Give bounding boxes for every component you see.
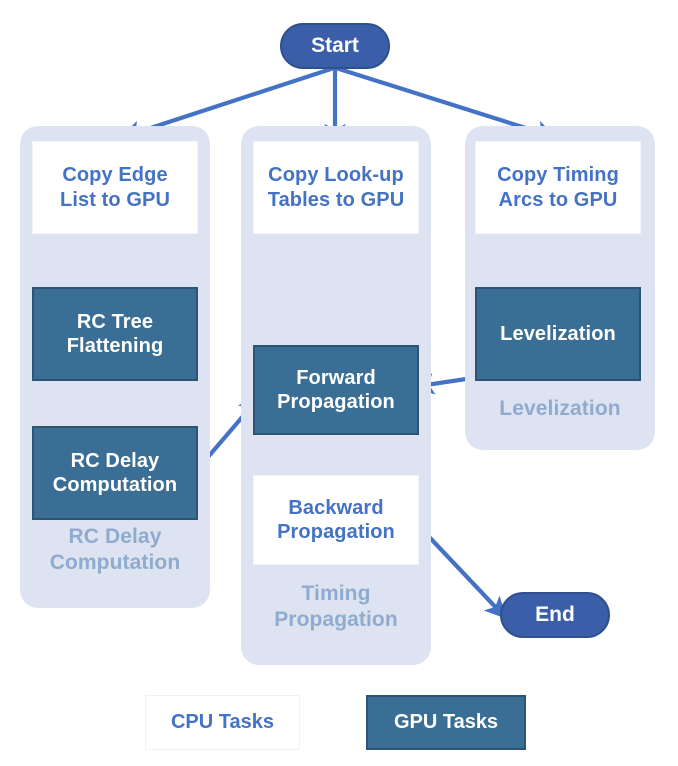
end-node-label: End <box>535 603 575 627</box>
legend-cpu-tasks: CPU Tasks <box>145 695 300 750</box>
node-line1: Levelization <box>500 322 616 346</box>
node-rc-delay-computation[interactable]: RC Delay Computation <box>32 426 198 520</box>
node-line1: Backward <box>277 496 395 520</box>
node-copy-timing-arcs-to-gpu[interactable]: Copy Timing Arcs to GPU <box>475 141 641 234</box>
legend-gpu-tasks: GPU Tasks <box>366 695 526 750</box>
group-label-line2: Computation <box>20 550 210 576</box>
group-label-levelization: Levelization <box>465 396 655 422</box>
node-rc-tree-flattening[interactable]: RC Tree Flattening <box>32 287 198 381</box>
flowchart-canvas: RC Delay Computation Timing Propagation … <box>0 0 678 766</box>
node-line1: RC Tree <box>67 310 164 334</box>
group-label-rc-delay-computation: RC Delay Computation <box>20 524 210 575</box>
node-copy-edge-list-to-gpu[interactable]: Copy Edge List to GPU <box>32 141 198 234</box>
group-label-line1: Levelization <box>465 396 655 422</box>
start-node[interactable]: Start <box>280 23 390 69</box>
legend-cpu-label: CPU Tasks <box>171 711 274 734</box>
end-node[interactable]: End <box>500 592 610 638</box>
node-line2: Flattening <box>67 334 164 358</box>
node-line2: Propagation <box>277 520 395 544</box>
node-line1: Forward <box>277 366 395 390</box>
group-label-line2: Propagation <box>241 607 431 633</box>
node-line2: Tables to GPU <box>268 188 405 212</box>
node-line1: Copy Edge <box>60 163 170 187</box>
group-label-line1: Timing <box>241 581 431 607</box>
start-node-label: Start <box>311 34 359 58</box>
node-line2: Arcs to GPU <box>497 188 619 212</box>
node-forward-propagation[interactable]: Forward Propagation <box>253 345 419 435</box>
node-levelization[interactable]: Levelization <box>475 287 641 381</box>
node-copy-lookup-tables-to-gpu[interactable]: Copy Look-up Tables to GPU <box>253 141 419 234</box>
node-line1: RC Delay <box>53 449 177 473</box>
node-line1: Copy Timing <box>497 163 619 187</box>
node-line2: Computation <box>53 473 177 497</box>
node-line1: Copy Look-up <box>268 163 405 187</box>
group-label-timing-propagation: Timing Propagation <box>241 581 431 632</box>
legend-gpu-label: GPU Tasks <box>394 711 498 734</box>
node-line2: Propagation <box>277 390 395 414</box>
group-label-line1: RC Delay <box>20 524 210 550</box>
node-line2: List to GPU <box>60 188 170 212</box>
node-backward-propagation[interactable]: Backward Propagation <box>253 475 419 565</box>
